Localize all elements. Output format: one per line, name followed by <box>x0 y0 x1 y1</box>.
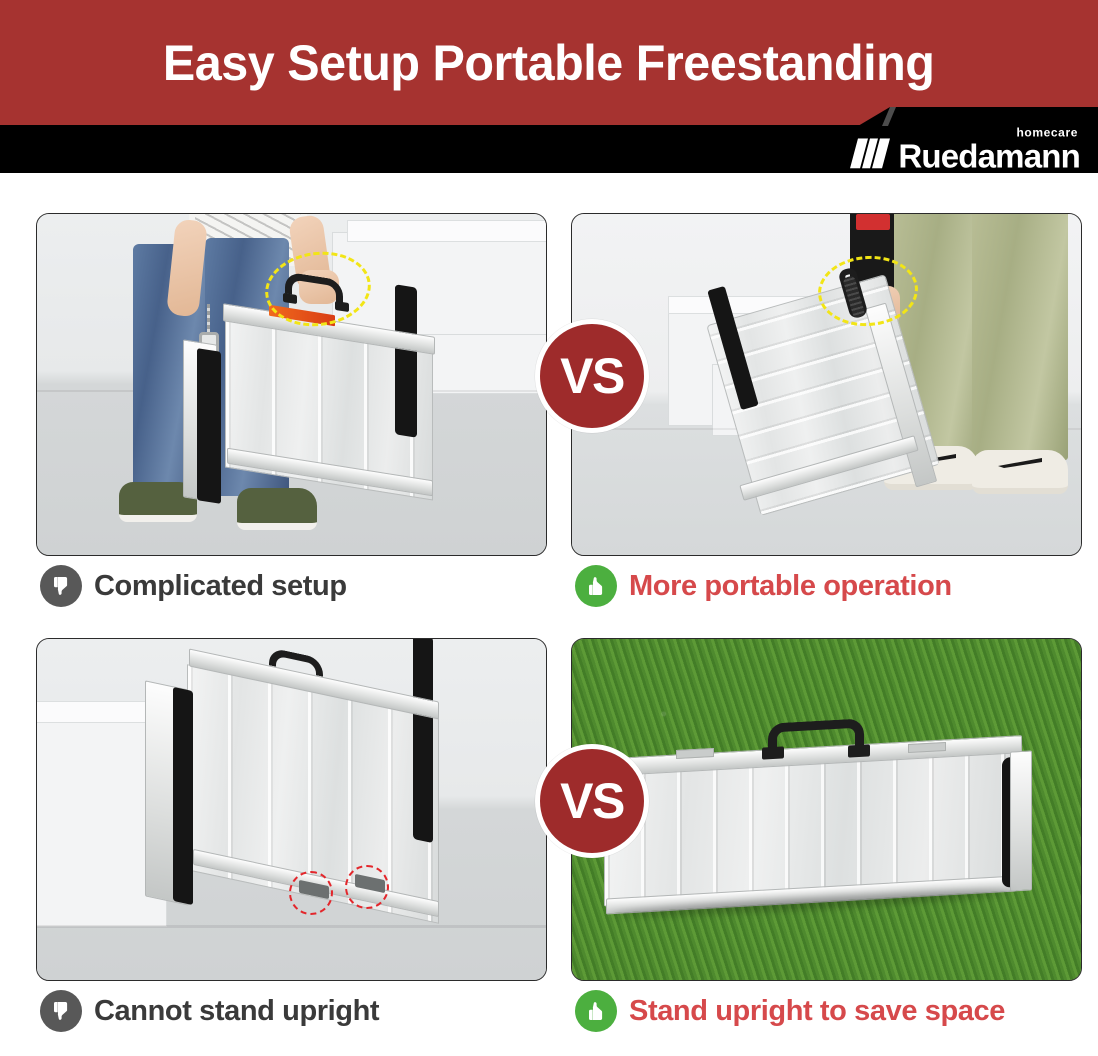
photo-complicated-setup <box>36 213 547 556</box>
brand-logo: homecare Ruedamann <box>848 126 1080 171</box>
comparison-row-2: Cannot stand upright <box>36 638 1062 1041</box>
base-highlight-circle-right <box>345 865 389 909</box>
caption-label: Complicated setup <box>94 570 347 603</box>
thumbs-up-icon <box>575 990 617 1032</box>
caption-label: Stand upright to save space <box>629 995 1005 1028</box>
vs-label: VS <box>560 351 624 401</box>
caption-label: Cannot stand upright <box>94 995 379 1028</box>
comparison-cell-positive-2: Stand upright to save space <box>571 638 1082 1041</box>
caption-stand-upright-save-space: Stand upright to save space <box>571 981 1082 1041</box>
caption-label: More portable operation <box>629 570 952 603</box>
brand-bar-notch <box>858 107 1098 126</box>
page-title: Easy Setup Portable Freestanding <box>163 34 934 92</box>
caption-more-portable-operation: More portable operation <box>571 556 1082 616</box>
thumbs-down-icon <box>40 990 82 1032</box>
base-highlight-circle-left <box>289 871 333 915</box>
comparison-grid: Complicated setup <box>0 173 1098 1056</box>
vs-label: VS <box>560 776 624 826</box>
comparison-row-1: Complicated setup <box>36 213 1062 616</box>
vs-badge: VS <box>535 744 649 858</box>
brand-bar: homecare Ruedamann <box>0 125 1098 173</box>
brand-name: Ruedamann <box>898 140 1080 171</box>
header-banner: Easy Setup Portable Freestanding <box>0 0 1098 125</box>
comparison-cell-negative-1: Complicated setup <box>36 213 547 616</box>
photo-cannot-stand-upright <box>36 638 547 981</box>
thumbs-up-icon <box>575 565 617 607</box>
vs-badge: VS <box>535 319 649 433</box>
caption-complicated-setup: Complicated setup <box>36 556 547 616</box>
comparison-cell-negative-2: Cannot stand upright <box>36 638 547 1041</box>
thumbs-down-icon <box>40 565 82 607</box>
triple-slash-icon <box>848 139 890 169</box>
caption-cannot-stand-upright: Cannot stand upright <box>36 981 547 1041</box>
comparison-cell-positive-1: More portable operation <box>571 213 1082 616</box>
